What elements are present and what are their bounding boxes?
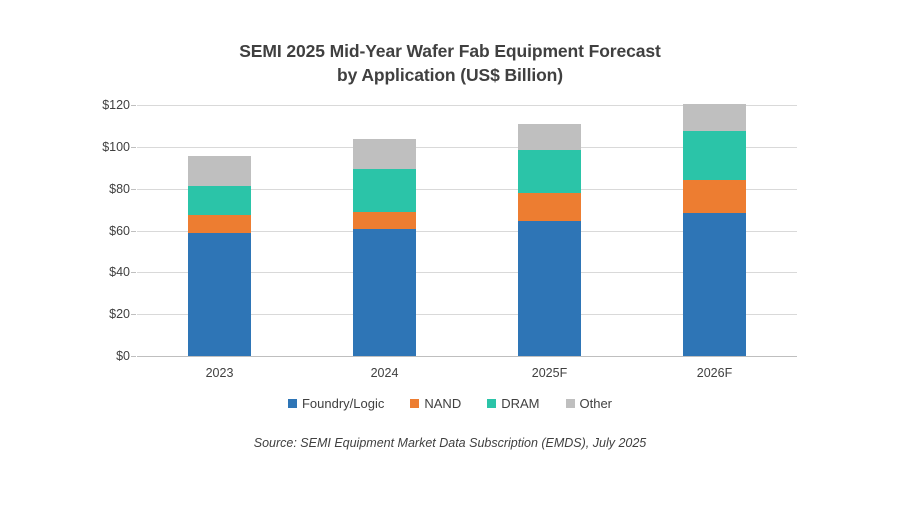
bar-stack: [518, 124, 581, 356]
bar-segment[interactable]: [353, 229, 416, 356]
legend-item[interactable]: Foundry/Logic: [288, 396, 384, 411]
y-axis-tick-label: $100: [70, 140, 130, 154]
legend-label: Other: [580, 396, 613, 411]
gridline-0: [137, 356, 797, 357]
bar-stack: [353, 139, 416, 357]
bar-segment[interactable]: [188, 233, 251, 356]
y-axis-tick-mark: [131, 314, 136, 315]
y-axis-tick-mark: [131, 105, 136, 106]
x-axis-tick-label: 2023: [160, 366, 280, 380]
y-axis-tick-label: $40: [70, 265, 130, 279]
x-axis-tick-label: 2024: [325, 366, 445, 380]
y-axis-tick-label: $120: [70, 98, 130, 112]
bar-segment[interactable]: [518, 193, 581, 221]
legend-item[interactable]: DRAM: [487, 396, 539, 411]
bar-segment[interactable]: [683, 131, 746, 180]
bar-segment[interactable]: [518, 221, 581, 356]
bar-segment[interactable]: [683, 213, 746, 356]
bar-segment[interactable]: [518, 150, 581, 193]
y-axis-tick-mark: [131, 231, 136, 232]
bar-segment[interactable]: [353, 169, 416, 212]
bar-segment[interactable]: [683, 104, 746, 131]
legend-label: Foundry/Logic: [302, 396, 384, 411]
chart-legend: Foundry/LogicNANDDRAMOther: [0, 396, 900, 411]
legend-swatch-icon: [487, 399, 496, 408]
legend-label: DRAM: [501, 396, 539, 411]
legend-label: NAND: [424, 396, 461, 411]
y-axis: $0$20$40$60$80$100$120: [65, 105, 130, 356]
chart-container: SEMI 2025 Mid-Year Wafer Fab Equipment F…: [0, 0, 900, 506]
bar-segment[interactable]: [188, 186, 251, 215]
legend-item[interactable]: NAND: [410, 396, 461, 411]
y-axis-tick-mark: [131, 272, 136, 273]
chart-title-line-1: SEMI 2025 Mid-Year Wafer Fab Equipment F…: [0, 40, 900, 64]
y-axis-tick-label: $0: [70, 349, 130, 363]
y-axis-tick-label: $20: [70, 307, 130, 321]
legend-swatch-icon: [566, 399, 575, 408]
bar-segment[interactable]: [353, 139, 416, 169]
bar-segment[interactable]: [683, 180, 746, 212]
y-axis-tick-mark: [131, 356, 136, 357]
x-axis-tick-label: 2025F: [490, 366, 610, 380]
bar-segment[interactable]: [188, 215, 251, 233]
source-note: Source: SEMI Equipment Market Data Subsc…: [0, 436, 900, 450]
bar-stack: [683, 104, 746, 356]
chart-title-line-2: by Application (US$ Billion): [0, 64, 900, 88]
x-axis-tick-label: 2026F: [655, 366, 775, 380]
bar-segment[interactable]: [188, 156, 251, 185]
bar-segment[interactable]: [353, 212, 416, 230]
plot-area: [137, 105, 797, 356]
y-axis-tick-mark: [131, 147, 136, 148]
bar-segment[interactable]: [518, 124, 581, 150]
y-axis-tick-mark: [131, 189, 136, 190]
y-axis-tick-label: $60: [70, 224, 130, 238]
legend-swatch-icon: [410, 399, 419, 408]
legend-item[interactable]: Other: [566, 396, 613, 411]
legend-swatch-icon: [288, 399, 297, 408]
chart-title: SEMI 2025 Mid-Year Wafer Fab Equipment F…: [0, 40, 900, 87]
bar-stack: [188, 156, 251, 356]
y-axis-tick-label: $80: [70, 182, 130, 196]
